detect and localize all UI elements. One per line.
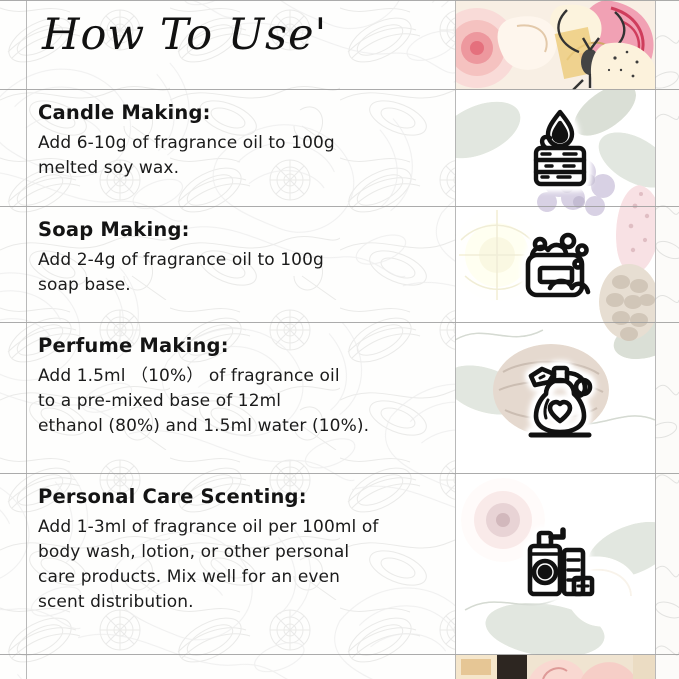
body-line: Add 6-10g of fragrance oil to 100g: [38, 131, 438, 156]
rule-2: [0, 206, 679, 207]
body-line: ethanol (80%) and 1.5ml water (10%).: [38, 414, 438, 439]
section-perfume-making: Perfume Making: Add 1.5ml （10%） of fragr…: [38, 334, 438, 439]
body-line: scent distribution.: [38, 590, 438, 615]
floral-band-vivid-top: [455, 0, 655, 90]
body-line: soap base.: [38, 273, 438, 298]
section-candle-making: Candle Making: Add 6-10g of fragrance oi…: [38, 101, 438, 181]
body-line: Add 1-3ml of fragrance oil per 100ml of: [38, 515, 438, 540]
body-line: to a pre-mixed base of 12ml: [38, 389, 438, 414]
rule-top: [0, 0, 679, 1]
section-soap-making: Soap Making: Add 2-4g of fragrance oil t…: [38, 218, 438, 298]
rule-3: [0, 322, 679, 323]
body-line: Add 1.5ml （10%） of fragrance oil: [38, 364, 438, 389]
section-personal-care-scenting: Personal Care Scenting: Add 1-3ml of fra…: [38, 485, 438, 615]
rule-5: [0, 654, 679, 655]
body-line: body wash, lotion, or other personal: [38, 540, 438, 565]
body-line: melted soy wax.: [38, 156, 438, 181]
perfume-bottle-icon: [518, 360, 602, 444]
body-line: Add 2-4g of fragrance oil to 100g: [38, 248, 438, 273]
rule-column-split: [455, 0, 456, 679]
rule-left-margin: [26, 0, 27, 679]
rule-right-edge: [655, 0, 656, 679]
soap-bar-icon: [518, 228, 602, 312]
page-title: How To Use': [42, 10, 327, 60]
rule-4: [0, 473, 679, 474]
section-heading-personal-care-scenting: Personal Care Scenting:: [38, 485, 438, 508]
how-to-use-poster: How To Use' Candle Making: Add 6-10g of …: [0, 0, 679, 679]
rule-1: [0, 89, 679, 90]
section-body-candle-making: Add 6-10g of fragrance oil to 100g melte…: [38, 131, 438, 181]
right-edge-strip: [655, 0, 679, 679]
section-body-personal-care-scenting: Add 1-3ml of fragrance oil per 100ml of …: [38, 515, 438, 615]
section-body-perfume-making: Add 1.5ml （10%） of fragrance oil to a pr…: [38, 364, 438, 439]
candle-icon: [518, 106, 602, 190]
section-body-soap-making: Add 2-4g of fragrance oil to 100g soap b…: [38, 248, 438, 298]
floral-band-vivid-bottom: [455, 655, 655, 679]
body-line: care products. Mix well for an even: [38, 565, 438, 590]
section-heading-candle-making: Candle Making:: [38, 101, 438, 124]
personal-care-products-icon: [518, 520, 602, 604]
section-heading-soap-making: Soap Making:: [38, 218, 438, 241]
section-heading-perfume-making: Perfume Making:: [38, 334, 438, 357]
